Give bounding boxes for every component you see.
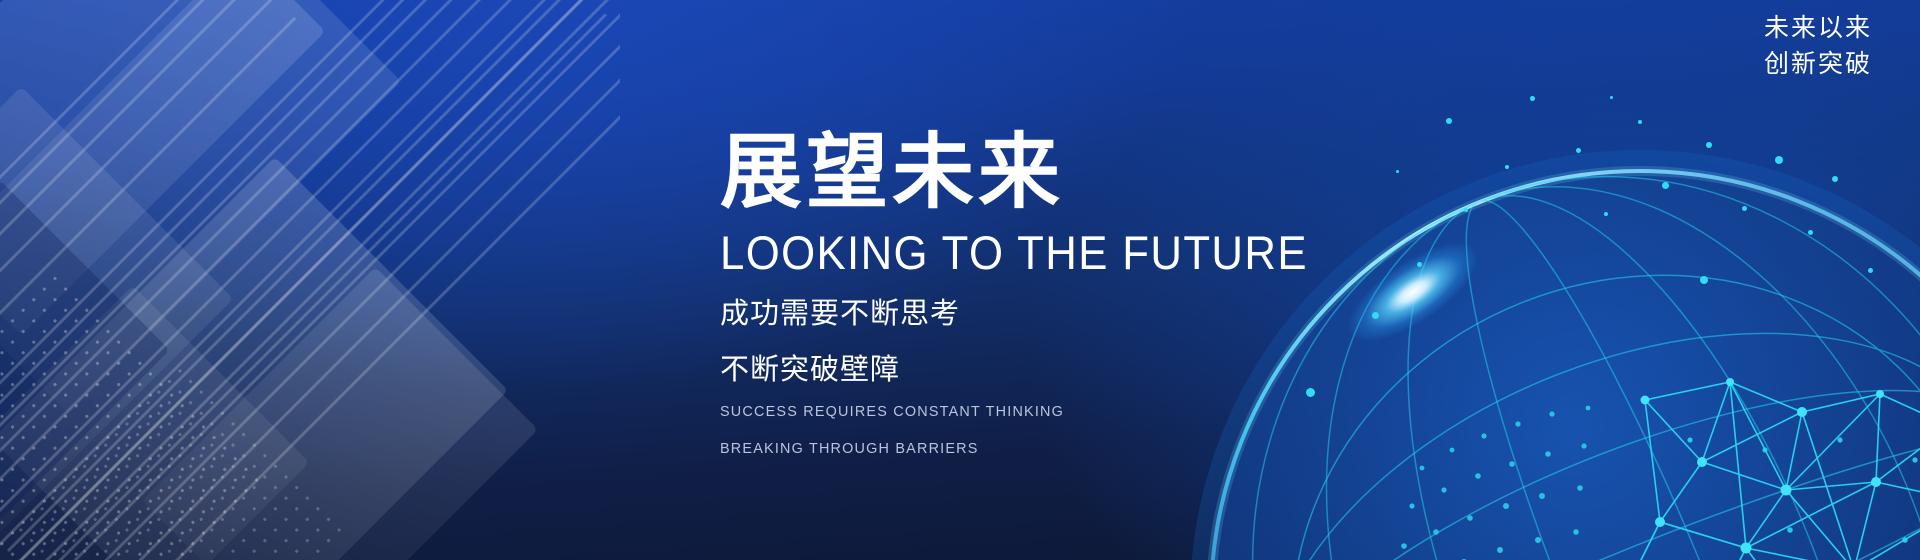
decor-panel — [0, 157, 508, 560]
subtitle-english-line-1: SUCCESS REQUIRES CONSTANT THINKING — [720, 399, 1450, 425]
decor-panel — [0, 0, 325, 335]
subtitle-chinese-line-1: 成功需要不断思考 — [720, 293, 1480, 333]
diagonal-stripes — [0, 0, 311, 560]
dot-grid — [10, 360, 349, 560]
left-geometric-decor — [0, 0, 620, 560]
decor-panel — [0, 286, 309, 560]
headline-english: LOOKING TO THE FUTURE — [720, 228, 1427, 277]
headline-block: 展望未来 LOOKING TO THE FUTURE 成功需要不断思考 不断突破… — [720, 132, 1480, 462]
diagonal-stripes — [7, 0, 620, 560]
subtitle-english-line-2: BREAKING THROUGH BARRIERS — [720, 436, 1450, 462]
decor-panel — [0, 0, 401, 414]
decor-panel-dark — [0, 180, 170, 519]
decor-panel — [142, 267, 538, 560]
corner-slogan: 未来以来 创新突破 — [1764, 10, 1872, 83]
subtitle-chinese-line-2: 不断突破壁障 — [720, 349, 1480, 389]
headline-chinese: 展望未来 — [720, 132, 1480, 214]
corner-slogan-line-1: 未来以来 — [1764, 10, 1872, 46]
dot-grid — [0, 268, 267, 560]
decor-panel — [0, 87, 233, 554]
diagonal-stripes — [0, 0, 620, 560]
corner-slogan-line-2: 创新突破 — [1764, 46, 1872, 82]
banner-root: 展望未来 LOOKING TO THE FUTURE 成功需要不断思考 不断突破… — [0, 0, 1920, 560]
